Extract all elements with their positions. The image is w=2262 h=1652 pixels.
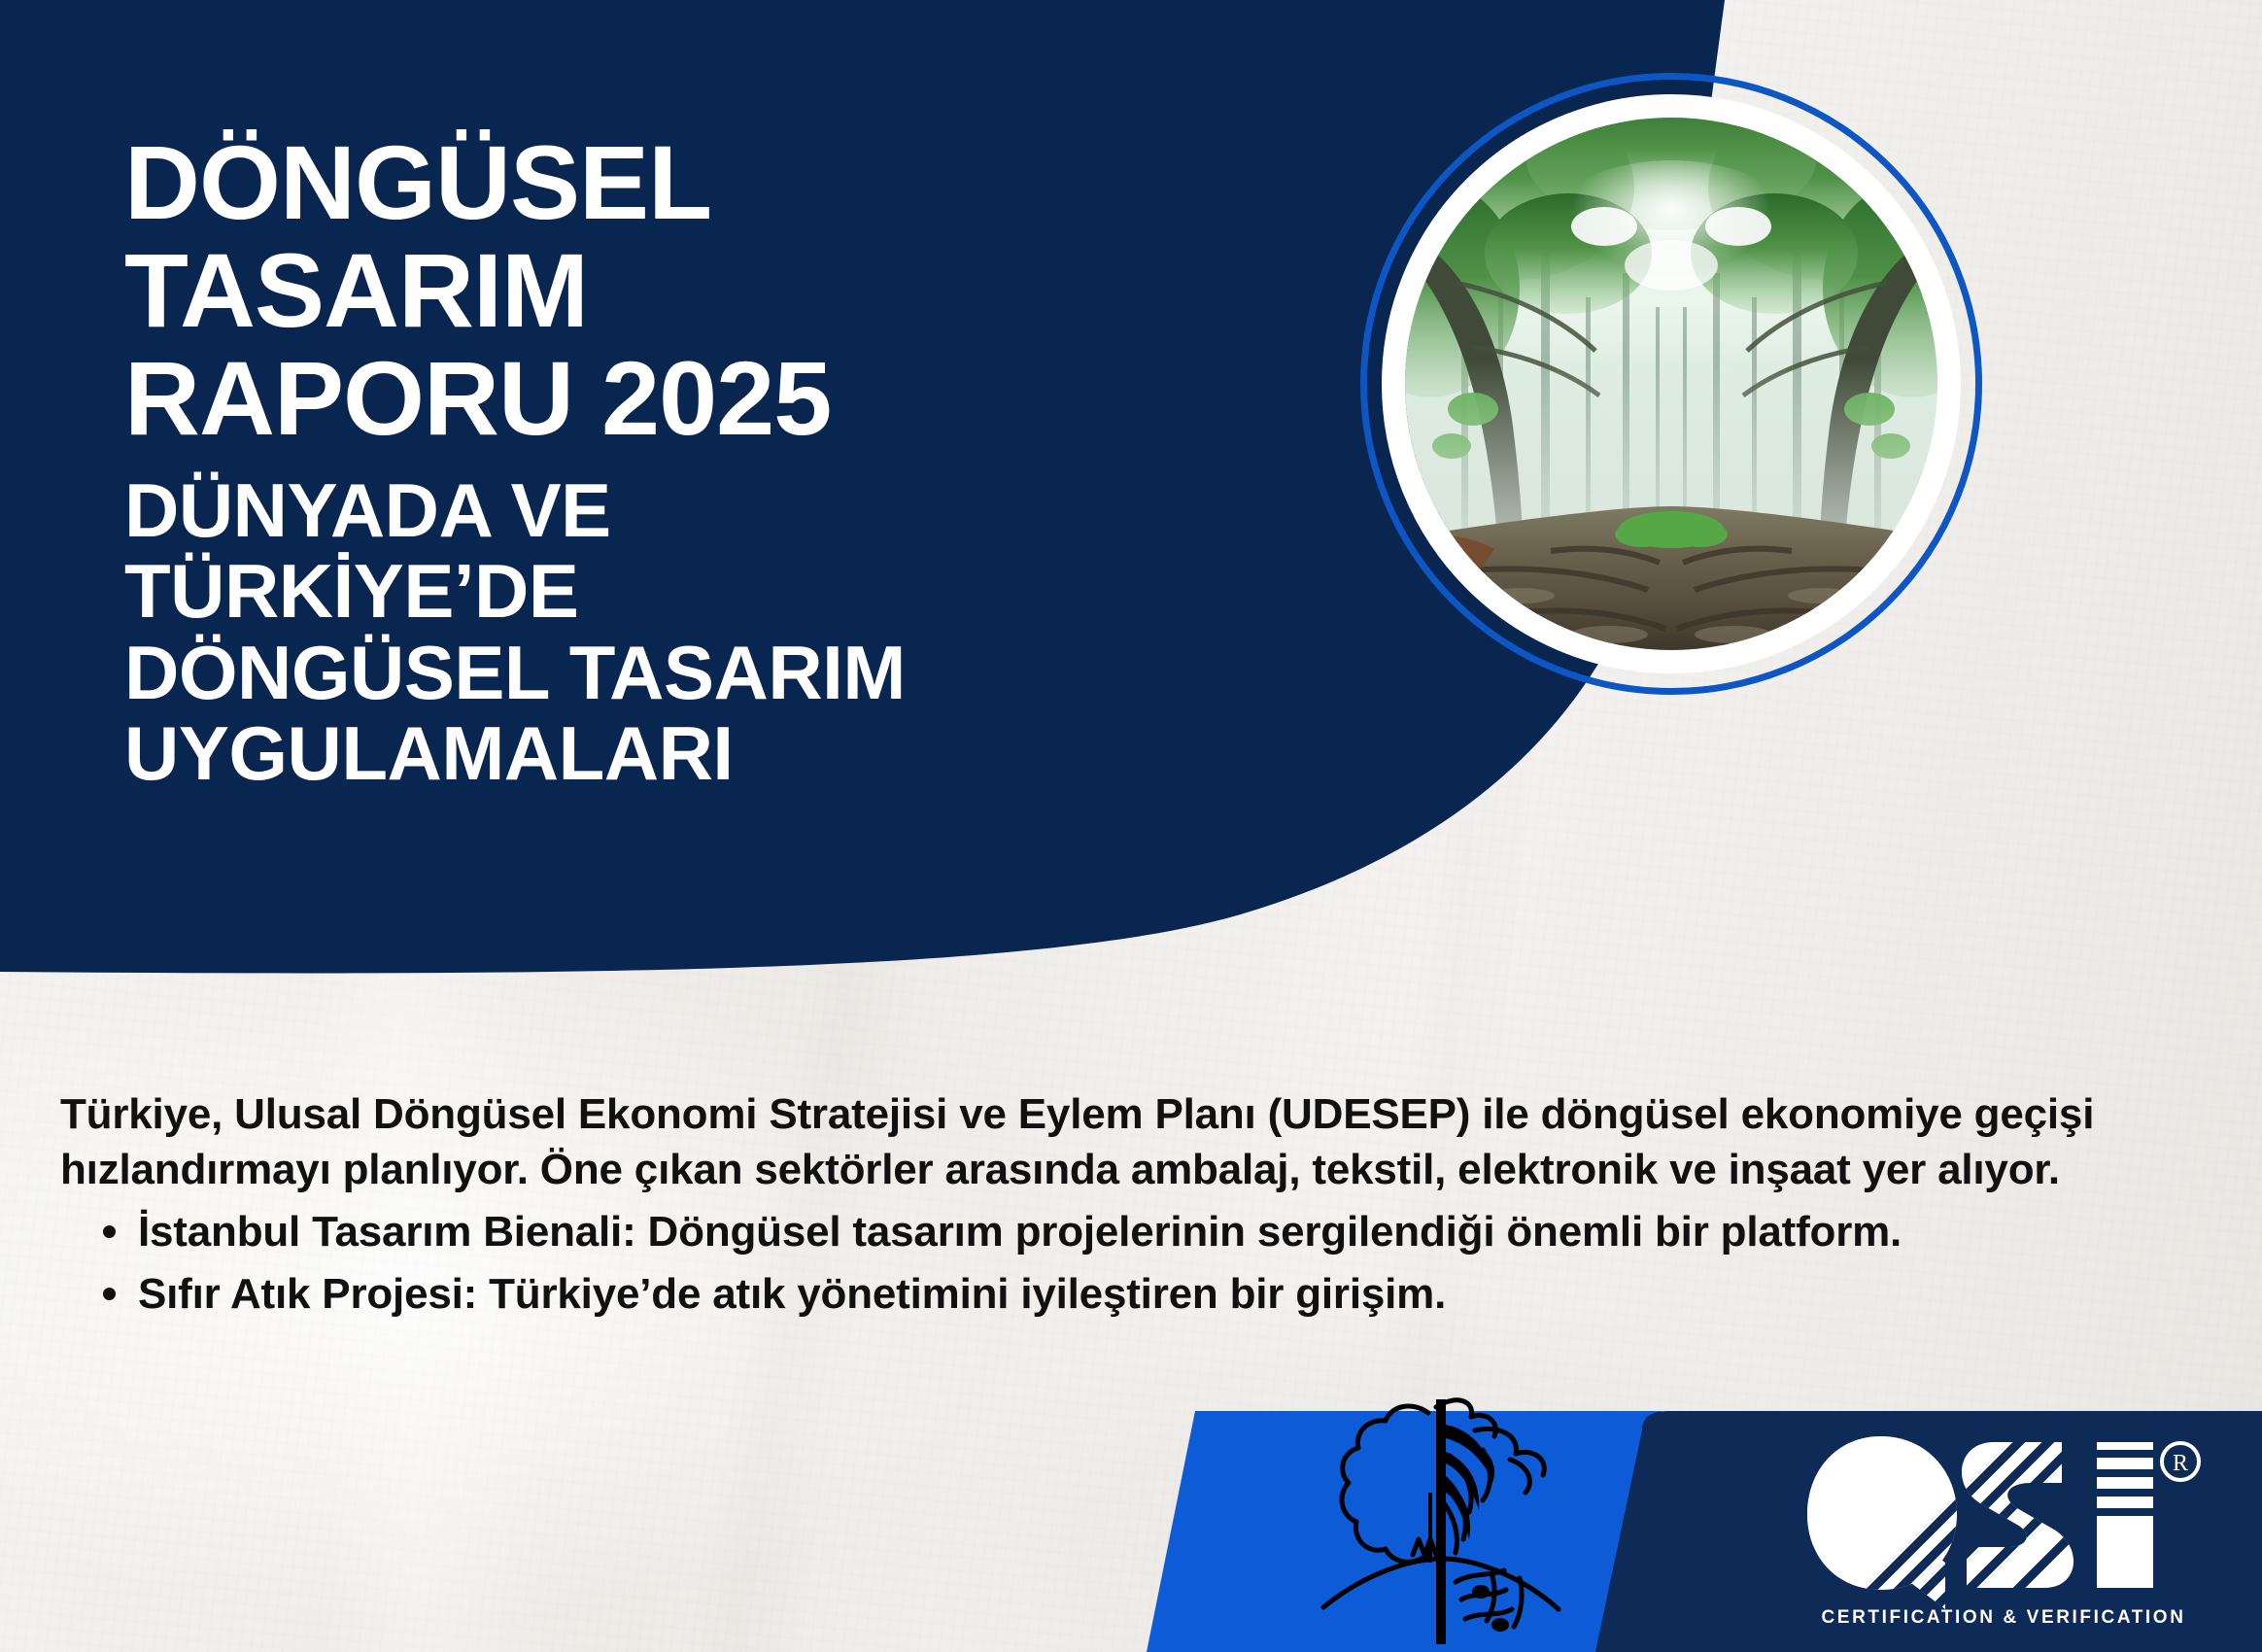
forest-photo — [1405, 118, 1937, 650]
headings-block: DÖNGÜSEL TASARIM RAPORU 2025 DÜNYADA VE … — [124, 128, 1125, 795]
list-item-label: Sıfır Atık Projesi: Türkiye’de atık yöne… — [138, 1270, 1446, 1318]
poster-canvas: DÖNGÜSEL TASARIM RAPORU 2025 DÜNYADA VE … — [0, 0, 2262, 1652]
qsi-logo: R CERTIFICATION & VERIFICATION — [1799, 1428, 2208, 1635]
intro-paragraph: Türkiye, Ulusal Döngüsel Ekonomi Stratej… — [60, 1086, 2178, 1197]
page-subtitle-line-2: TÜRKİYE’DE — [124, 551, 1125, 632]
page-subtitle-line-1: DÜNYADA VE — [124, 453, 1125, 551]
qsi-tagline: CERTIFICATION & VERIFICATION — [1821, 1607, 2185, 1628]
tree-environment-logo — [1319, 1392, 1562, 1652]
bullet-list: İstanbul Tasarım Bienali: Döngüsel tasar… — [60, 1203, 2178, 1324]
page-title-line-1: DÖNGÜSEL TASARIM — [124, 128, 1125, 344]
page-subtitle-line-4: UYGULAMALARI — [124, 713, 1125, 794]
qsi-letter-i — [2091, 1442, 2161, 1588]
page-subtitle-line-3: DÖNGÜSEL TASARIM — [124, 633, 1125, 713]
forest-circle-medallion — [1360, 73, 1982, 695]
list-item: İstanbul Tasarım Bienali: Döngüsel tasar… — [60, 1203, 2178, 1261]
svg-text:R: R — [2173, 1451, 2188, 1476]
list-item: Sıfır Atık Projesi: Türkiye’de atık yöne… — [60, 1265, 2178, 1324]
bullet-dot-icon — [103, 1288, 116, 1300]
body-copy-block: Türkiye, Ulusal Döngüsel Ekonomi Stratej… — [60, 1086, 2178, 1324]
registered-trademark-icon: R — [2162, 1443, 2199, 1480]
list-item-label: İstanbul Tasarım Bienali: Döngüsel tasar… — [138, 1208, 1902, 1256]
page-title-line-2: RAPORU 2025 — [124, 344, 1125, 452]
bullet-dot-icon — [103, 1225, 116, 1238]
